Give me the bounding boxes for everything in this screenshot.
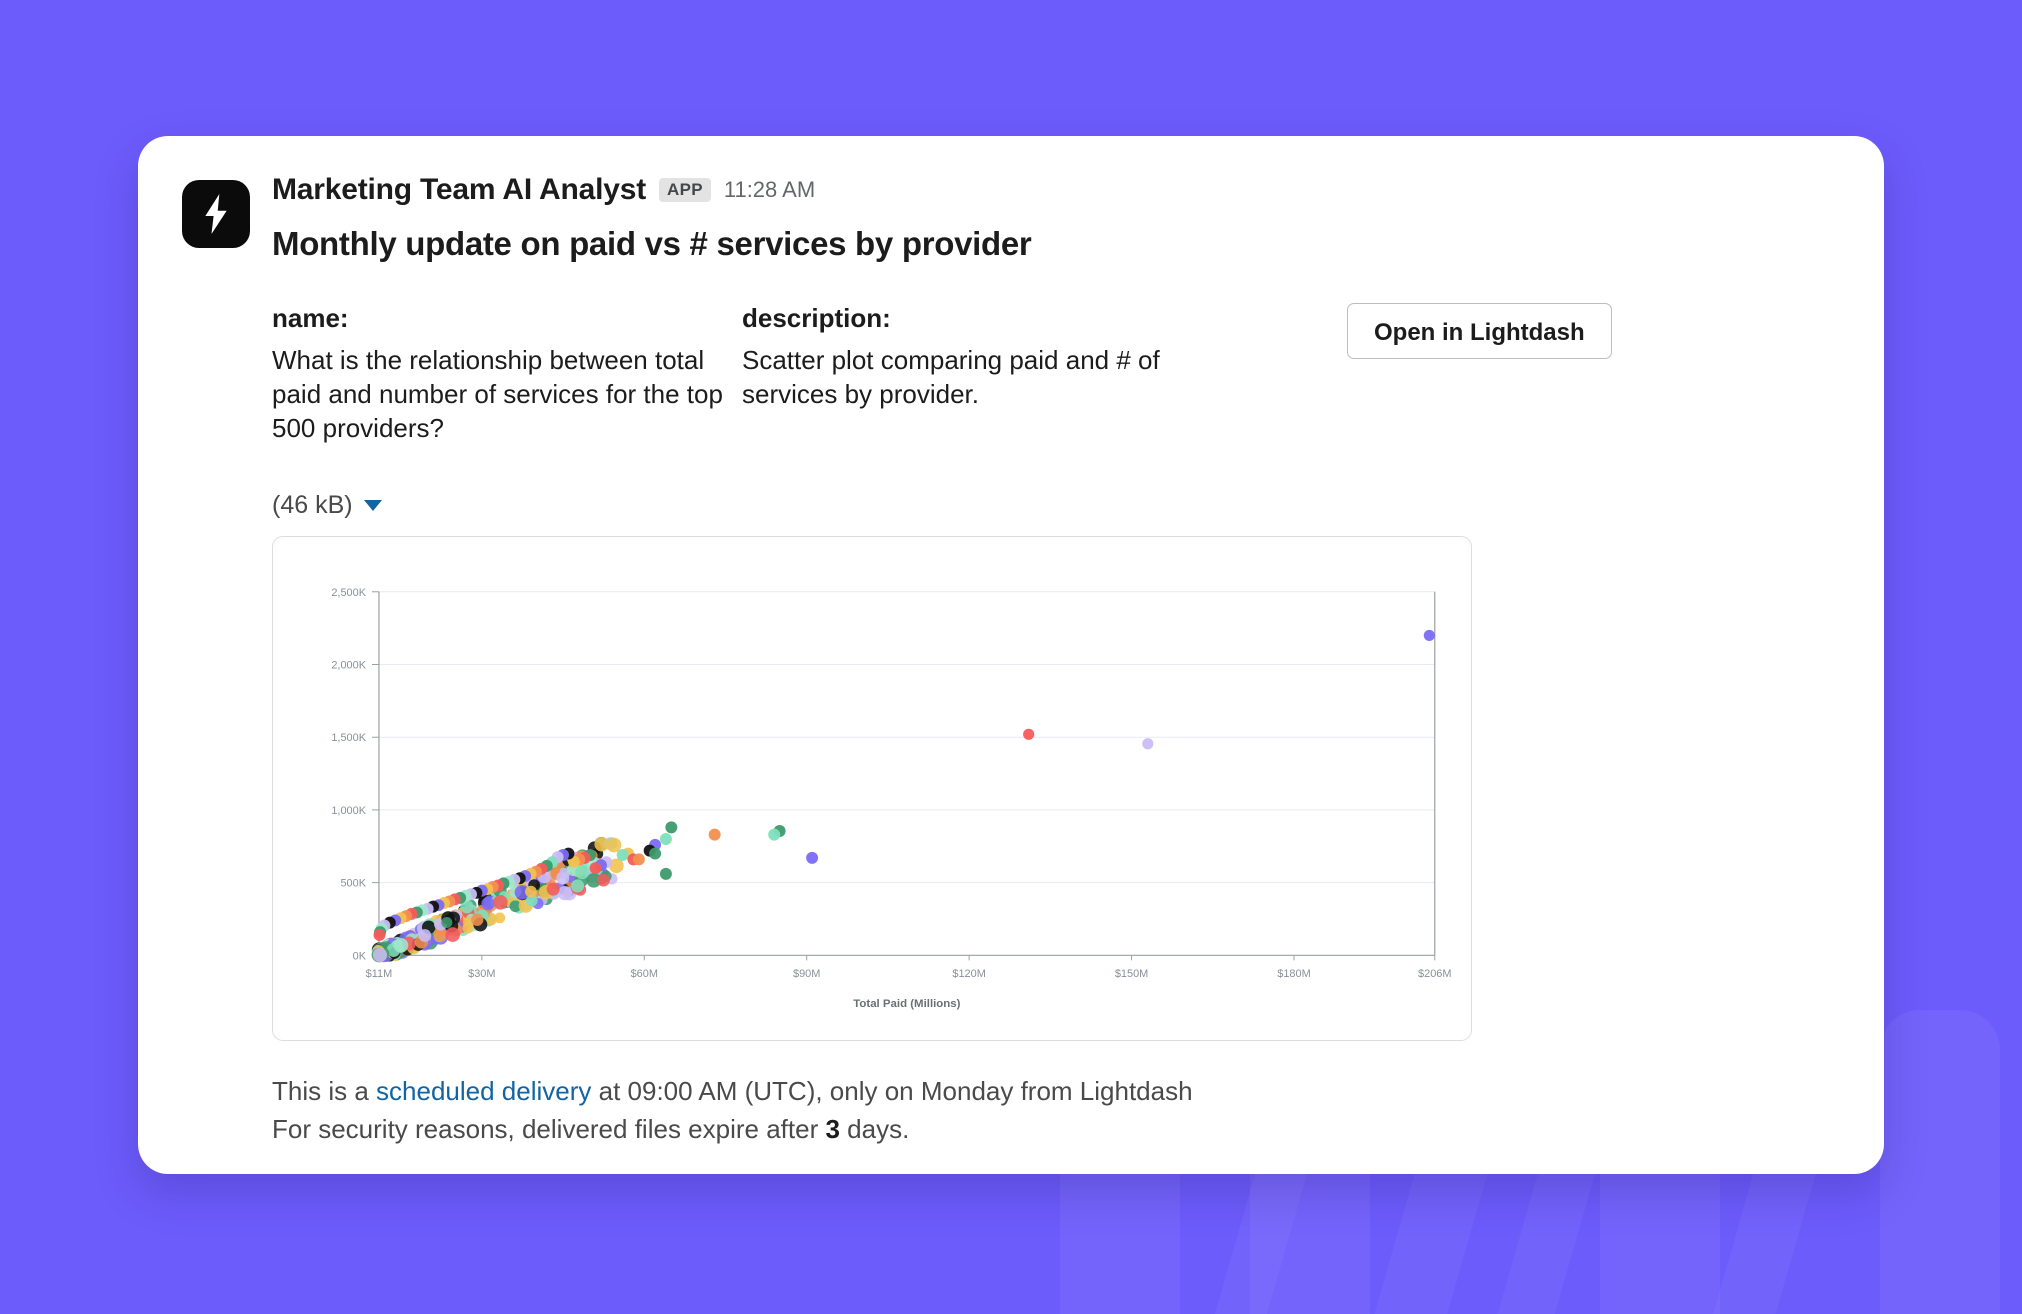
name-value: What is the relationship between total p… [272,343,742,445]
message-timestamp: 11:28 AM [724,177,815,203]
file-size-label: (46 kB) [272,491,353,520]
svg-text:0K: 0K [353,950,367,962]
metadata-row: name: What is the relationship between t… [272,303,1840,445]
svg-text:1,000K: 1,000K [331,805,366,817]
svg-text:1,500K: 1,500K [331,732,366,744]
description-value: Scatter plot comparing paid and # of ser… [742,343,1232,411]
expiry-info-line: For security reasons, delivered files ex… [272,1111,1840,1149]
attachment-size-row: (46 kB) [272,491,1840,520]
svg-text:500K: 500K [340,878,366,890]
svg-text:$180M: $180M [1277,968,1310,980]
svg-text:$90M: $90M [793,968,820,980]
message-title: Monthly update on paid vs # services by … [272,225,1031,263]
lightning-bolt-icon [182,180,250,248]
header-text-block: Marketing Team AI Analyst APP 11:28 AM M… [272,170,1031,263]
expiry-suffix: days. [840,1114,909,1144]
action-column: Open in Lightdash [1232,303,1840,445]
delivery-suffix: at 09:00 AM (UTC), only on Monday from L… [591,1076,1192,1106]
svg-text:$30M: $30M [468,968,495,980]
scatter-chart-container[interactable]: 0K500K1,000K1,500K2,000K2,500K$11M$30M$6… [272,536,1472,1041]
message-header: Marketing Team AI Analyst APP 11:28 AM M… [182,170,1840,263]
name-column: name: What is the relationship between t… [272,303,742,445]
scatter-plot: 0K500K1,000K1,500K2,000K2,500K$11M$30M$6… [273,537,1471,1040]
open-in-lightdash-button[interactable]: Open in Lightdash [1347,303,1612,359]
description-label: description: [742,303,1232,334]
footer-block: This is a scheduled delivery at 09:00 AM… [272,1073,1840,1148]
svg-text:2,500K: 2,500K [331,587,366,599]
slack-message-card: Marketing Team AI Analyst APP 11:28 AM M… [138,136,1884,1174]
expiry-prefix: For security reasons, delivered files ex… [272,1114,825,1144]
description-column: description: Scatter plot comparing paid… [742,303,1232,445]
svg-text:2,000K: 2,000K [331,660,366,672]
delivery-prefix: This is a [272,1076,376,1106]
sender-name: Marketing Team AI Analyst [272,173,646,207]
expiry-days: 3 [825,1114,839,1144]
scheduled-delivery-link[interactable]: scheduled delivery [376,1076,591,1106]
chevron-down-icon[interactable] [364,500,382,511]
sender-line: Marketing Team AI Analyst APP 11:28 AM [272,170,1031,210]
delivery-info-line: This is a scheduled delivery at 09:00 AM… [272,1073,1840,1111]
svg-text:$150M: $150M [1115,968,1148,980]
svg-text:$11M: $11M [366,968,393,980]
svg-text:$206M: $206M [1418,968,1451,980]
svg-text:Total Paid (Millions): Total Paid (Millions) [853,998,960,1010]
svg-text:$60M: $60M [631,968,658,980]
name-label: name: [272,303,742,334]
app-badge: APP [659,178,711,202]
svg-text:$120M: $120M [952,968,985,980]
